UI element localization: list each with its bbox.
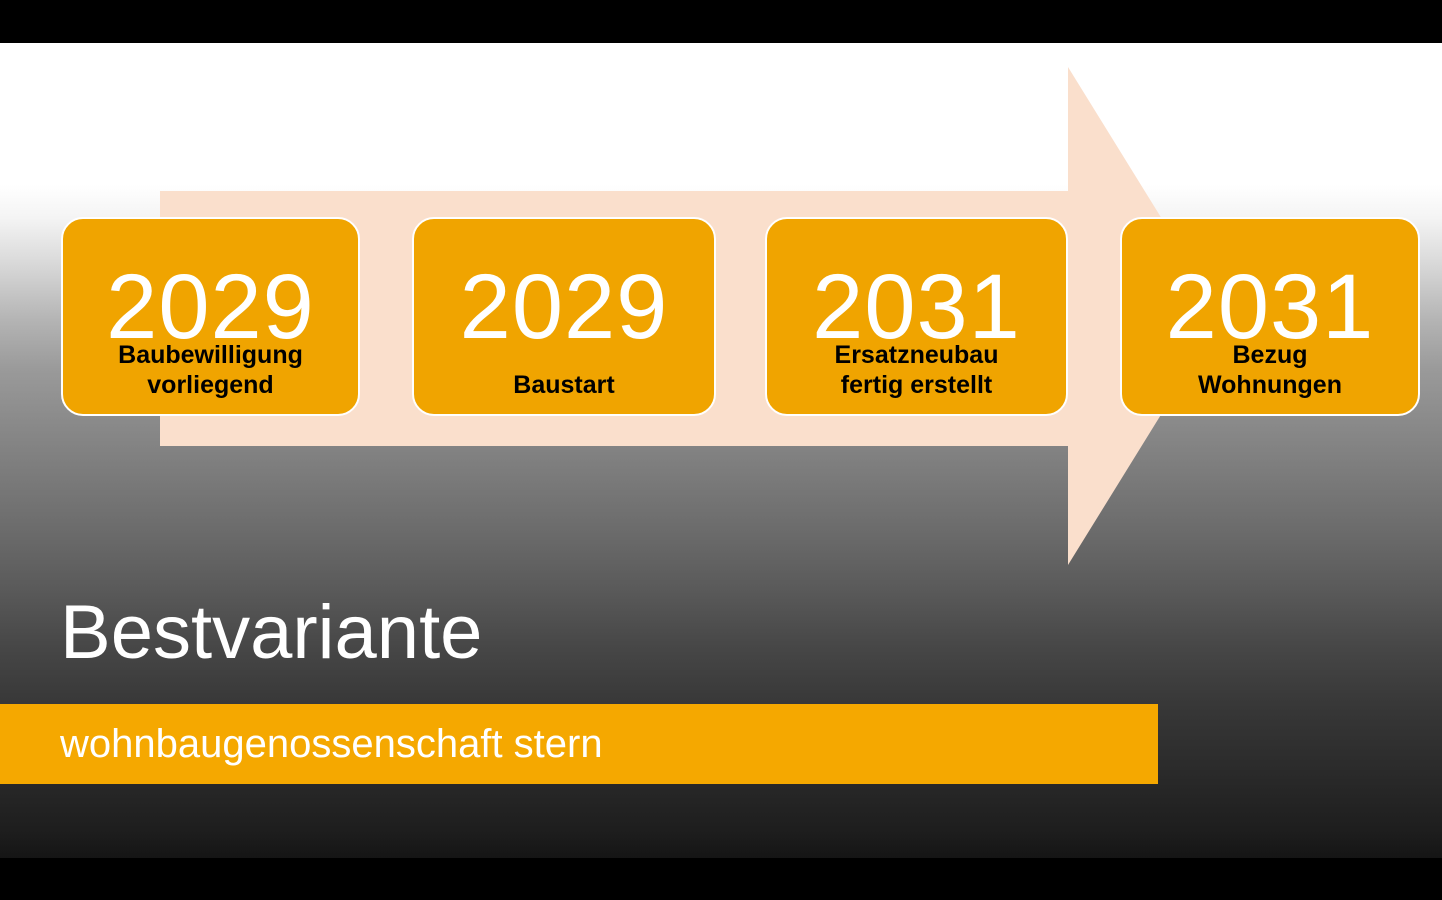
milestone-year: 2031 [1166, 261, 1375, 353]
presentation-slide: 2029 Baubewilligung vorliegend 2029 Baus… [0, 0, 1442, 900]
milestone-card-1[interactable]: 2029 Baubewilligung vorliegend [61, 217, 360, 416]
letterbox-bar-top [0, 0, 1442, 43]
milestone-card-2[interactable]: 2029 Baustart [412, 217, 716, 416]
slide-headline: Bestvariante [60, 595, 482, 671]
milestone-label: Bezug Wohnungen [1122, 341, 1418, 400]
milestone-label: Baubewilligung vorliegend [63, 341, 358, 400]
milestone-year: 2029 [106, 261, 315, 353]
milestone-year: 2031 [812, 261, 1021, 353]
letterbox-bar-bottom [0, 858, 1442, 900]
milestone-card-4[interactable]: 2031 Bezug Wohnungen [1120, 217, 1420, 416]
milestone-label: Baustart [414, 371, 714, 401]
milestone-card-3[interactable]: 2031 Ersatzneubau fertig erstellt [765, 217, 1068, 416]
brand-band: wohnbaugenossenschaft stern [0, 704, 1158, 784]
slide-canvas: 2029 Baubewilligung vorliegend 2029 Baus… [0, 43, 1442, 858]
milestone-label: Ersatzneubau fertig erstellt [767, 341, 1066, 400]
brand-name: wohnbaugenossenschaft stern [60, 722, 603, 767]
milestone-year: 2029 [460, 261, 669, 353]
